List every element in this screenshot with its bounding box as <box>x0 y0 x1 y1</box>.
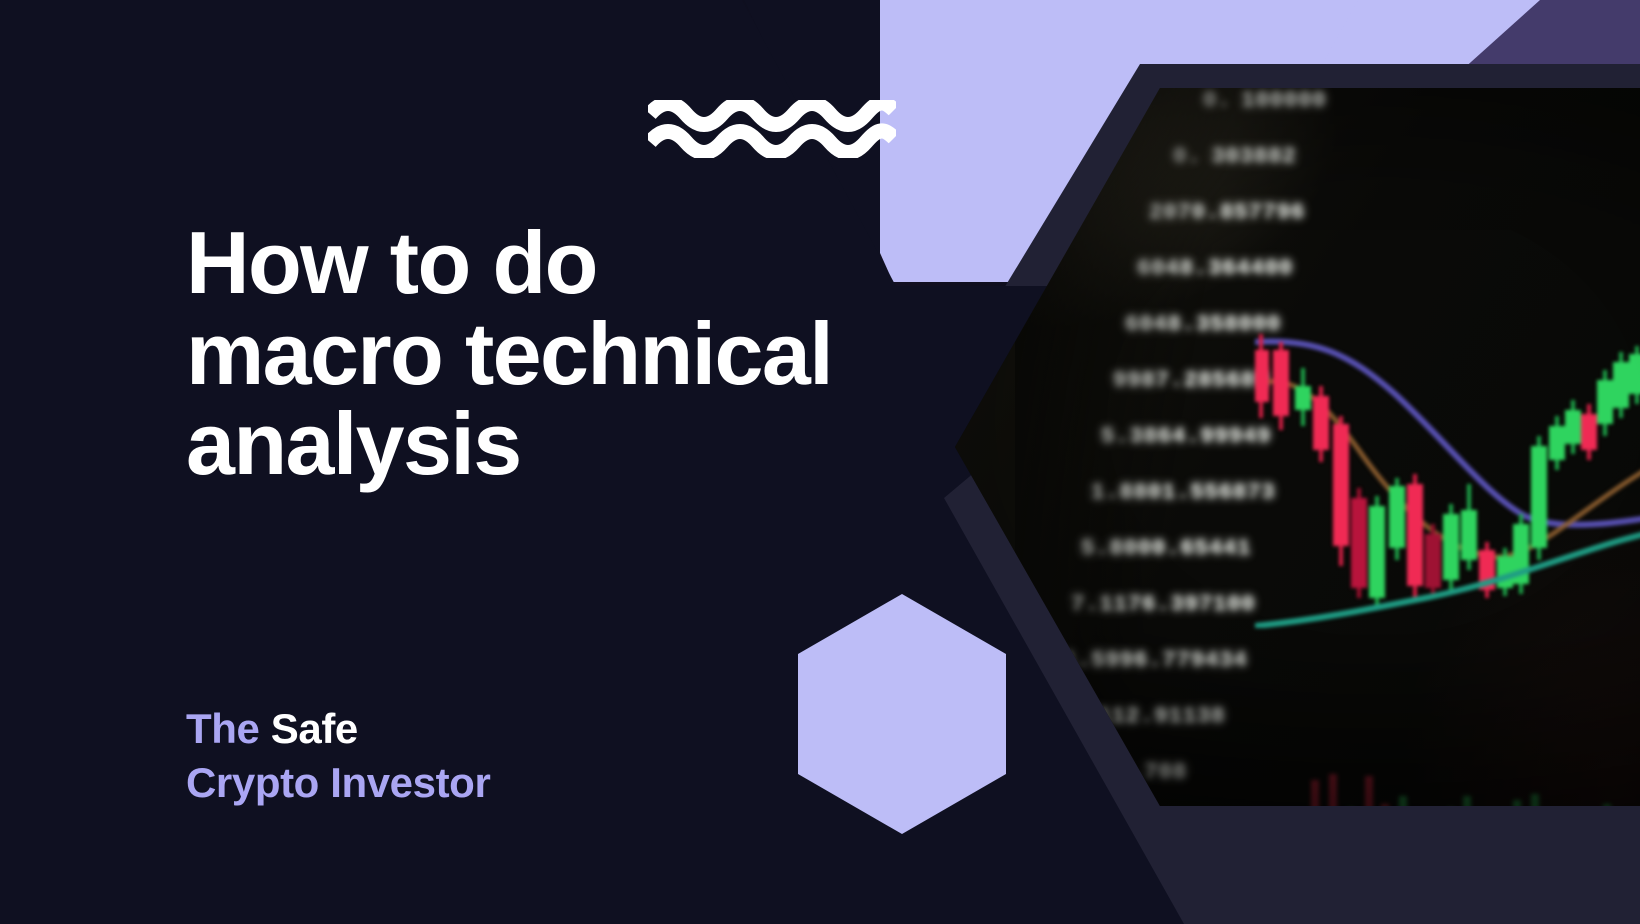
volume-bar-chart <box>1255 708 1640 806</box>
brand-the: The <box>186 705 271 752</box>
ticker-row: 6048.364400 <box>1137 256 1427 281</box>
candles <box>1255 334 1640 610</box>
brand-line-2: Crypto Investor <box>186 756 490 810</box>
brand-safe: Safe <box>271 705 358 752</box>
ticker-row: 0.100000 <box>1203 88 1493 113</box>
page-title: How to do macro technical analysis <box>186 218 976 490</box>
volume-bars <box>1259 774 1611 806</box>
ticker-row: 0.303882 <box>1173 144 1463 169</box>
ticker-row: 2070.857796 <box>1149 200 1439 225</box>
blog-hero-banner: 0.100000 0.303882 2070.857796 6048.36440… <box>0 0 1640 924</box>
brand-line-1: The Safe <box>186 702 490 756</box>
brand-signature: The Safe Crypto Investor <box>186 702 490 810</box>
candlestick-chart <box>1255 298 1640 628</box>
wave-lines-icon <box>648 100 896 158</box>
ticker-row: 1.5996.779434 <box>1063 648 1353 673</box>
